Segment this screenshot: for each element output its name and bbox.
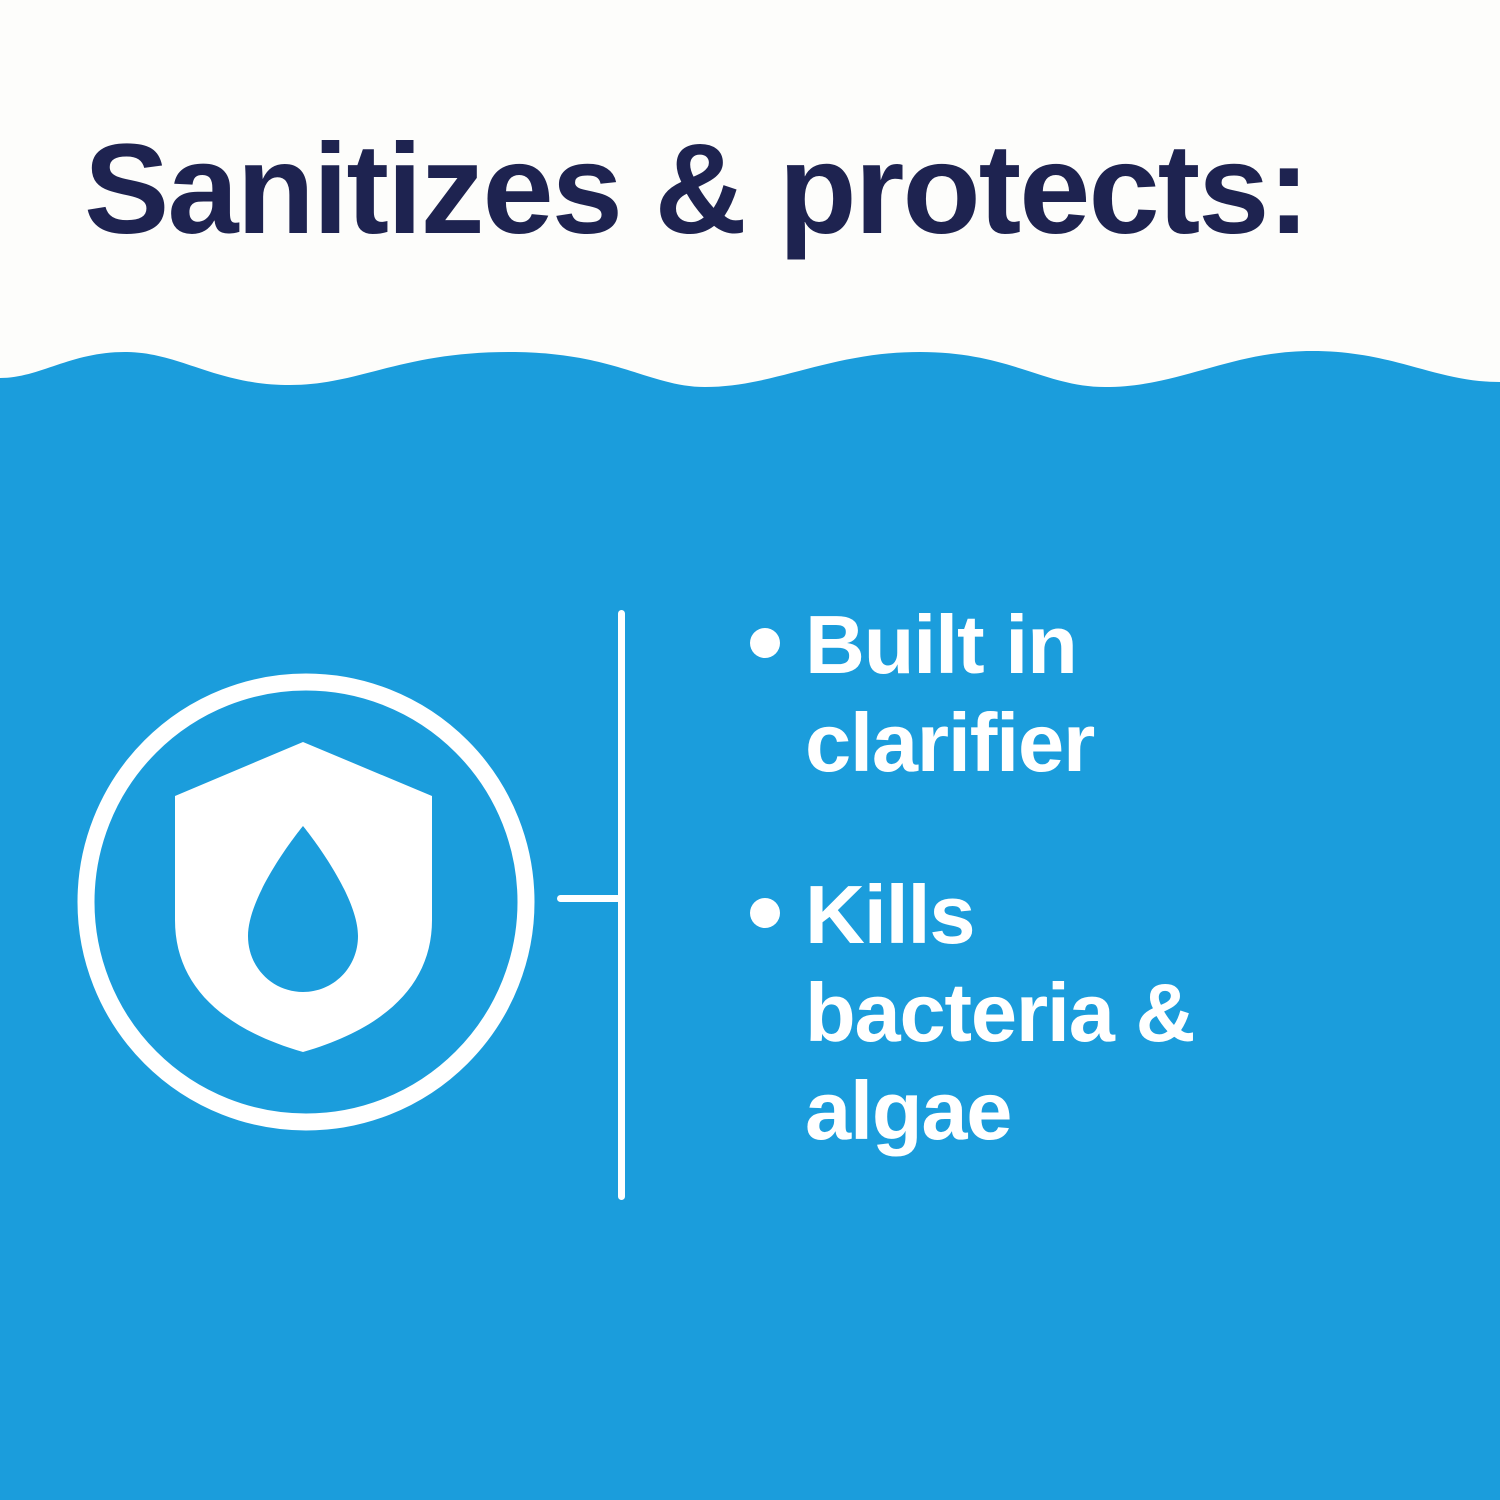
divider-line (618, 610, 625, 1200)
page-title: Sanitizes & protects: (84, 126, 1308, 254)
bullet-dot-icon (750, 628, 780, 658)
bullet-dot-icon (750, 898, 780, 928)
shield-water-drop-icon (70, 666, 542, 1138)
feature-label: Kills bacteria & algae (805, 866, 1265, 1160)
shield-icon (175, 742, 432, 1052)
vertical-divider (550, 610, 640, 1200)
divider-tick (557, 895, 621, 902)
feature-label: Built in clarifier (805, 596, 1265, 792)
list-item: Kills bacteria & algae (745, 866, 1265, 1160)
water-wave-divider (0, 330, 1500, 440)
promo-panel: Sanitizes & protects: Built in clarifier… (0, 0, 1500, 1500)
list-item: Built in clarifier (745, 596, 1265, 792)
feature-list: Built in clarifier Kills bacteria & alga… (745, 596, 1265, 1160)
